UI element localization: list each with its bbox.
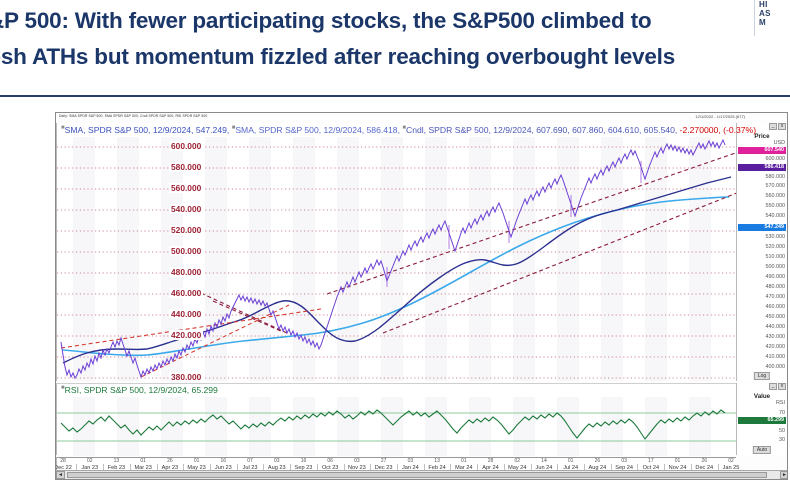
y-label-420: 420.000 (169, 330, 203, 340)
x-tick-day-9: 16 (301, 458, 307, 464)
price-tick-11: 490.000 (739, 274, 785, 280)
price-badge-last: 607.540 (738, 147, 786, 154)
y-label-440: 440.000 (169, 309, 203, 319)
x-tick-day-24: 26 (701, 458, 707, 464)
price-pane[interactable]: ■SMA, SPDR S&P 500, 12/9/2024, 547.249, … (56, 123, 736, 381)
corner-logo-mark: HI AS M (754, 0, 788, 36)
price-tick-12: 480.000 (739, 284, 785, 290)
price-tick-16: 440.000 (739, 324, 785, 330)
title-line-1: &P 500: With fewer participating stocks,… (0, 8, 651, 34)
price-plot-area[interactable]: 600.000 580.000 560.000 540.000 520.000 … (57, 137, 737, 381)
price-tick-19: 410.000 (739, 354, 785, 360)
scroll-thumb[interactable] (67, 472, 767, 478)
x-tick-day-19: 01 (568, 458, 574, 464)
legend-sma-slow: SMA, SPDR S&P 500, 12/9/2024, 547.249 (65, 125, 227, 135)
price-tick-8: 520.000 (739, 244, 785, 250)
price-scale-buttons[interactable]: _ x (769, 123, 786, 130)
x-tick-day-21: 03 (621, 458, 627, 464)
x-tick-day-14: 13 (434, 458, 440, 464)
rsi-scale[interactable]: _ x Value RSI 70 65.299 50 30 Auto (736, 383, 787, 455)
x-tick-day-12: 27 (381, 458, 387, 464)
x-tick-day-16: 28 (488, 458, 494, 464)
slide-title-block: &P 500: With fewer participating stocks,… (0, 0, 790, 96)
x-tick-day-3: 01 (140, 458, 146, 464)
y-label-380: 380.000 (169, 372, 203, 381)
title-divider (0, 95, 790, 97)
scroll-right-button[interactable]: ► (780, 471, 788, 479)
rsi-scale-header: Value (737, 392, 787, 400)
rsi-scale-buttons[interactable]: _ x (769, 383, 786, 390)
price-tick-3: 570.000 (739, 183, 785, 189)
horizontal-scrollbar[interactable]: ◄ ► (56, 470, 788, 479)
x-tick-day-10: 06 (327, 458, 333, 464)
y-label-460: 460.000 (169, 288, 203, 298)
price-tick-20: 400.000 (739, 364, 785, 370)
price-tick-7: 530.000 (739, 234, 785, 240)
y-label-560: 560.000 (169, 183, 203, 193)
price-tick-6: 540.000 (739, 213, 785, 219)
x-tick-day-0: 28 (60, 458, 66, 464)
x-tick-day-8: 03 (274, 458, 280, 464)
price-tick-2: 580.000 (739, 174, 785, 180)
price-tick-17: 430.000 (739, 334, 785, 340)
price-badge-sma-fast: 586.418 (738, 164, 786, 171)
price-scale[interactable]: _ x Price USD 607.540 586.418 547.249 60… (736, 123, 787, 381)
price-tick-4: 560.000 (739, 193, 785, 199)
price-scale-close-button[interactable]: x (778, 123, 786, 130)
y-label-600: 600.000 (169, 141, 203, 151)
price-tick-18: 420.000 (739, 344, 785, 350)
rsi-chart-svg (57, 397, 737, 456)
rsi-scale-auto-toggle[interactable]: Auto (753, 446, 771, 454)
legend-candle: Cndl, SPDR S&P 500, 12/9/2024, 607.690, … (406, 125, 677, 135)
x-tick-day-2: 13 (114, 458, 120, 464)
rsi-scale-close-button[interactable]: x (778, 383, 786, 390)
price-tick-5: 550.000 (739, 203, 785, 209)
x-tick-day-25: 02 (728, 458, 734, 464)
price-tick-15: 450.000 (739, 314, 785, 320)
x-tick-day-17: 02 (514, 458, 520, 464)
rsi-pane[interactable]: ■RSI, SPDR S&P 500, 12/9/2024, 65.299 (56, 383, 736, 455)
y-label-580: 580.000 (169, 162, 203, 172)
price-scale-log-toggle[interactable]: Log (754, 372, 770, 380)
corner-logo-line-1: HI (759, 0, 788, 9)
rsi-tick-70: 70 (739, 410, 785, 416)
chart-meta-text: Daily: SMA SPDR S&P 500, SMA SPDR S&P 50… (59, 114, 207, 118)
x-tick-day-22: 17 (648, 458, 654, 464)
rsi-badge-last: 65.299 (738, 417, 786, 424)
price-badge-sma-slow: 547.249 (738, 224, 786, 231)
price-scale-unit: USD (739, 140, 785, 146)
price-chart-svg (57, 137, 737, 381)
month-bands (73, 137, 711, 381)
price-tick-9: 510.000 (739, 254, 785, 260)
x-tick-day-23: 01 (675, 458, 681, 464)
x-tick-day-5: 01 (194, 458, 200, 464)
title-line-2: resh ATHs but momentum fizzled after rea… (0, 44, 675, 70)
screenshot-root: &P 500: With fewer participating stocks,… (0, 0, 790, 492)
x-tick-day-4: 26 (167, 458, 173, 464)
y-label-480: 480.000 (169, 267, 203, 277)
x-tick-day-18: 14 (541, 458, 547, 464)
chart-window[interactable]: Daily: SMA SPDR S&P 500, SMA SPDR S&P 50… (55, 112, 788, 480)
rsi-scale-minimize-button[interactable]: _ (769, 383, 777, 390)
y-label-540: 540.000 (169, 204, 203, 214)
scroll-left-button[interactable]: ◄ (56, 471, 65, 479)
rsi-tick-30: 30 (739, 437, 785, 443)
rsi-pane-legend: ■RSI, SPDR S&P 500, 12/9/2024, 65.299 (61, 385, 218, 395)
x-tick-day-6: 16 (221, 458, 227, 464)
x-tick-day-15: 01 (461, 458, 467, 464)
y-label-500: 500.000 (169, 246, 203, 256)
y-label-520: 520.000 (169, 225, 203, 235)
corner-logo-line-3: M (759, 18, 788, 27)
price-tick-10: 500.000 (739, 264, 785, 270)
x-tick-day-11: 03 (354, 458, 360, 464)
legend-sma-fast: SMA, SPDR S&P 500, 12/9/2024, 586.418 (235, 125, 397, 135)
x-tick-day-1: 02 (87, 458, 93, 464)
rsi-legend-text: RSI, SPDR S&P 500, 12/9/2024, 65.299 (65, 385, 218, 395)
price-pane-legend: ■SMA, SPDR S&P 500, 12/9/2024, 547.249, … (61, 125, 756, 135)
legend-change: -2.270000, (-0.37%) (680, 125, 756, 135)
rsi-plot-area[interactable] (57, 397, 737, 456)
x-tick-day-7: 07 (247, 458, 253, 464)
rsi-month-bands (73, 397, 711, 456)
price-tick-14: 460.000 (739, 304, 785, 310)
rsi-scale-unit: RSI (739, 400, 785, 406)
rsi-tick-50: 50 (739, 428, 785, 434)
corner-logo-line-2: AS (759, 9, 788, 18)
x-tick-day-13: 03 (408, 458, 414, 464)
price-tick-0: 600.000 (739, 156, 785, 162)
x-tick-day-20: 26 (595, 458, 601, 464)
price-scale-minimize-button[interactable]: _ (769, 123, 777, 130)
price-tick-13: 470.000 (739, 294, 785, 300)
chart-date-range: 12/1/2022 - 1/17/2025 (677) (695, 114, 745, 119)
